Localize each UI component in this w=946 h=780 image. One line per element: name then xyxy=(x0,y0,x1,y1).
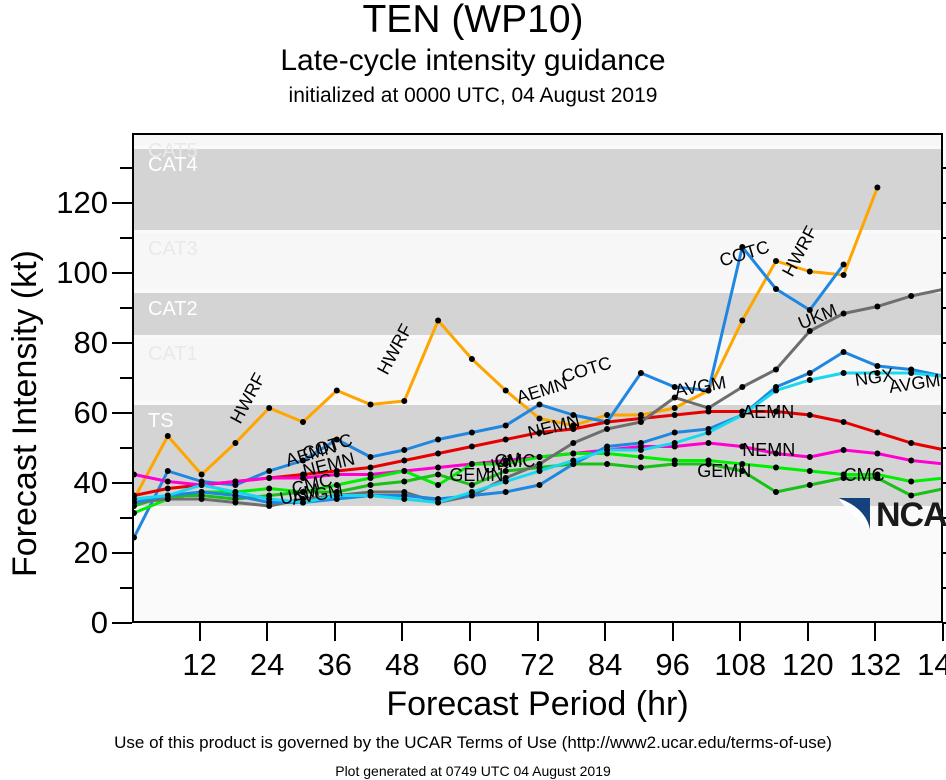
series-label-gemn: GEMN xyxy=(697,462,751,480)
x-tickmark-60 xyxy=(469,623,471,641)
series-point-cotc xyxy=(537,402,543,408)
series-point-ngx xyxy=(503,489,509,495)
x-tick-12: 12 xyxy=(165,649,235,680)
series-point-aemn xyxy=(672,412,678,418)
y-tick-120: 120 xyxy=(0,187,108,218)
series-point-cotc xyxy=(638,370,644,376)
y-tickmark-0 xyxy=(112,622,132,624)
series-point-cmc xyxy=(368,475,374,481)
y-tickmark-120 xyxy=(112,202,132,204)
y-minor-tick-70 xyxy=(120,377,132,379)
series-point-avgm xyxy=(435,500,441,506)
x-tick-108: 108 xyxy=(705,649,775,680)
series-point-nemn xyxy=(807,454,813,460)
series-point-nemn xyxy=(435,465,441,471)
series-point-ngx xyxy=(942,374,943,380)
initialization-text: initialized at 0000 UTC, 04 August 2019 xyxy=(0,84,946,108)
series-point-cmc xyxy=(435,482,441,488)
series-point-ukm xyxy=(604,426,610,432)
series-point-nemn xyxy=(908,458,914,464)
series-point-avgm xyxy=(841,370,847,376)
series-point-ukm xyxy=(739,384,745,390)
series-point-hwrf xyxy=(300,419,306,425)
series-point-gemn xyxy=(638,465,644,471)
series-point-gemn xyxy=(368,482,374,488)
series-point-avgm xyxy=(401,496,407,502)
series-point-cotc xyxy=(435,437,441,443)
series-point-ukm xyxy=(199,496,205,502)
series-point-ngx xyxy=(537,482,543,488)
series-point-cmc xyxy=(773,465,779,471)
series-point-cmc xyxy=(570,451,576,457)
series-point-hwrf xyxy=(165,433,171,439)
y-tick-0: 0 xyxy=(0,607,108,638)
series-point-hwrf xyxy=(739,318,745,324)
series-point-cmc xyxy=(638,454,644,460)
series-point-ukm xyxy=(773,367,779,373)
x-tick-132: 132 xyxy=(840,649,910,680)
ncar-swoosh-icon xyxy=(836,494,880,536)
series-point-avgm xyxy=(638,447,644,453)
y-tick-20: 20 xyxy=(0,537,108,568)
ncar-logo-text: NCAR xyxy=(876,496,946,535)
series-point-ukm xyxy=(841,311,847,317)
y-tickmark-100 xyxy=(112,272,132,274)
series-point-ngx xyxy=(841,349,847,355)
series-point-avgm xyxy=(368,493,374,499)
y-tickmark-80 xyxy=(112,342,132,344)
y-minor-tick-110 xyxy=(120,237,132,239)
series-point-avgm xyxy=(469,489,475,495)
page-subtitle: Late-cycle intensity guidance xyxy=(0,44,946,78)
series-point-hwrf xyxy=(807,269,813,275)
series-point-avgm xyxy=(199,482,205,488)
y-tick-40: 40 xyxy=(0,467,108,498)
series-point-hwrf xyxy=(368,402,374,408)
series-point-cotc xyxy=(266,468,272,474)
series-point-ngx xyxy=(638,440,644,446)
series-point-ngx xyxy=(807,370,813,376)
series-point-hwrf xyxy=(334,388,340,394)
y-minor-tick-50 xyxy=(120,447,132,449)
series-point-cmc xyxy=(942,475,943,481)
series-point-aemn xyxy=(942,447,943,453)
x-tickmark-96 xyxy=(672,623,674,641)
series-point-nemn xyxy=(132,472,137,478)
x-tickmark-132 xyxy=(874,623,876,641)
x-tick-84: 84 xyxy=(570,649,640,680)
series-point-hwrf xyxy=(503,388,509,394)
series-point-nemn xyxy=(266,475,272,481)
x-tickmark-48 xyxy=(401,623,403,641)
series-point-cotc xyxy=(841,262,847,268)
series-label-aemn: AEMN xyxy=(742,403,794,421)
page-title: TEN (WP10) xyxy=(0,0,946,42)
series-point-avgm xyxy=(604,447,610,453)
series-point-nemn xyxy=(942,461,943,467)
series-label-nemn: NEMN xyxy=(742,441,795,459)
y-tickmark-40 xyxy=(112,482,132,484)
series-point-hwrf xyxy=(874,185,880,191)
series-point-nemn xyxy=(165,479,171,485)
x-tick-48: 48 xyxy=(367,649,437,680)
series-point-aemn xyxy=(604,419,610,425)
x-tick-60: 60 xyxy=(435,649,505,680)
y-minor-tick-10 xyxy=(120,587,132,589)
series-point-cmc xyxy=(908,479,914,485)
series-point-gemn xyxy=(807,482,813,488)
series-point-cotc xyxy=(469,430,475,436)
series-point-aemn xyxy=(841,419,847,425)
series-point-avgm xyxy=(232,489,238,495)
series-point-aemn xyxy=(908,440,914,446)
x-tick-144: 144 xyxy=(908,649,946,680)
series-point-nemn xyxy=(841,447,847,453)
series-point-aemn xyxy=(807,412,813,418)
series-point-hwrf xyxy=(672,405,678,411)
series-point-hwrf xyxy=(266,405,272,411)
y-minor-tick-90 xyxy=(120,307,132,309)
series-point-hwrf xyxy=(773,258,779,264)
y-tick-100: 100 xyxy=(0,257,108,288)
series-point-cmc xyxy=(401,468,407,474)
series-point-avgm xyxy=(570,458,576,464)
y-tick-80: 80 xyxy=(0,327,108,358)
series-point-avgm xyxy=(942,374,943,380)
series-point-cotc xyxy=(165,468,171,474)
series-point-avgm xyxy=(773,388,779,394)
series-point-ngx xyxy=(672,430,678,436)
series-point-ukm xyxy=(706,405,712,411)
series-point-gemn xyxy=(773,489,779,495)
series-point-ukm xyxy=(638,419,644,425)
x-axis-title: Forecast Period (hr) xyxy=(132,685,943,724)
series-point-hwrf xyxy=(841,272,847,278)
ncar-logo: NCAR xyxy=(836,492,946,538)
series-point-nemn xyxy=(706,440,712,446)
series-point-avgm xyxy=(706,430,712,436)
series-point-cotc xyxy=(503,423,509,429)
series-point-cotc xyxy=(401,447,407,453)
series-point-gemn xyxy=(604,461,610,467)
y-tick-60: 60 xyxy=(0,397,108,428)
x-tick-96: 96 xyxy=(638,649,708,680)
series-point-ukm xyxy=(537,461,543,467)
series-point-avgm xyxy=(807,377,813,383)
series-point-ukm xyxy=(570,440,576,446)
series-point-hwrf xyxy=(401,398,407,404)
x-tick-36: 36 xyxy=(300,649,370,680)
series-point-nemn xyxy=(874,451,880,457)
series-point-nemn xyxy=(232,479,238,485)
plot-generated-text: Plot generated at 0749 UTC 04 August 201… xyxy=(0,763,946,779)
series-point-ukm xyxy=(232,500,238,506)
series-point-hwrf xyxy=(435,318,441,324)
series-point-cmc xyxy=(537,454,543,460)
chart-plot-area: TSCAT1CAT2CAT3CAT4CAT5 HWRFHWRFHWRFCOTCC… xyxy=(132,133,943,623)
series-point-hwrf xyxy=(469,356,475,362)
terms-of-use-text: Use of this product is governed by the U… xyxy=(0,733,946,753)
series-point-avgm xyxy=(503,479,509,485)
series-point-cotc xyxy=(773,286,779,292)
series-point-gemn xyxy=(672,461,678,467)
y-tickmark-20 xyxy=(112,552,132,554)
series-point-ukm xyxy=(942,286,943,292)
series-point-hwrf xyxy=(232,440,238,446)
series-point-avgm xyxy=(165,493,171,499)
series-point-gemn xyxy=(435,472,441,478)
x-tickmark-120 xyxy=(807,623,809,641)
series-point-aemn xyxy=(435,451,441,457)
x-tick-72: 72 xyxy=(503,649,573,680)
series-point-avgm xyxy=(672,440,678,446)
series-point-gemn xyxy=(942,486,943,492)
y-minor-tick-130 xyxy=(120,167,132,169)
series-label-cmc: CMC xyxy=(844,466,885,484)
series-point-aemn xyxy=(503,437,509,443)
series-point-aemn xyxy=(469,444,475,450)
x-tick-120: 120 xyxy=(773,649,843,680)
series-point-cmc xyxy=(807,468,813,474)
series-point-cmc xyxy=(266,486,272,492)
x-tickmark-144 xyxy=(942,623,944,641)
x-tickmark-36 xyxy=(334,623,336,641)
series-point-aemn xyxy=(165,486,171,492)
x-tick-24: 24 xyxy=(232,649,302,680)
series-point-hwrf xyxy=(199,472,205,478)
series-point-avgm xyxy=(266,496,272,502)
series-point-ukm xyxy=(908,293,914,299)
x-tickmark-84 xyxy=(604,623,606,641)
series-point-aemn xyxy=(401,458,407,464)
x-tickmark-24 xyxy=(266,623,268,641)
series-point-aemn xyxy=(368,465,374,471)
series-point-avgm xyxy=(537,468,543,474)
series-point-aemn xyxy=(874,430,880,436)
x-tickmark-72 xyxy=(537,623,539,641)
x-tickmark-12 xyxy=(199,623,201,641)
y-tickmark-60 xyxy=(112,412,132,414)
series-point-gemn xyxy=(401,479,407,485)
series-point-ukm xyxy=(874,304,880,310)
series-point-ngx xyxy=(199,489,205,495)
series-point-cotc xyxy=(368,454,374,460)
x-tickmark-108 xyxy=(739,623,741,641)
y-minor-tick-30 xyxy=(120,517,132,519)
